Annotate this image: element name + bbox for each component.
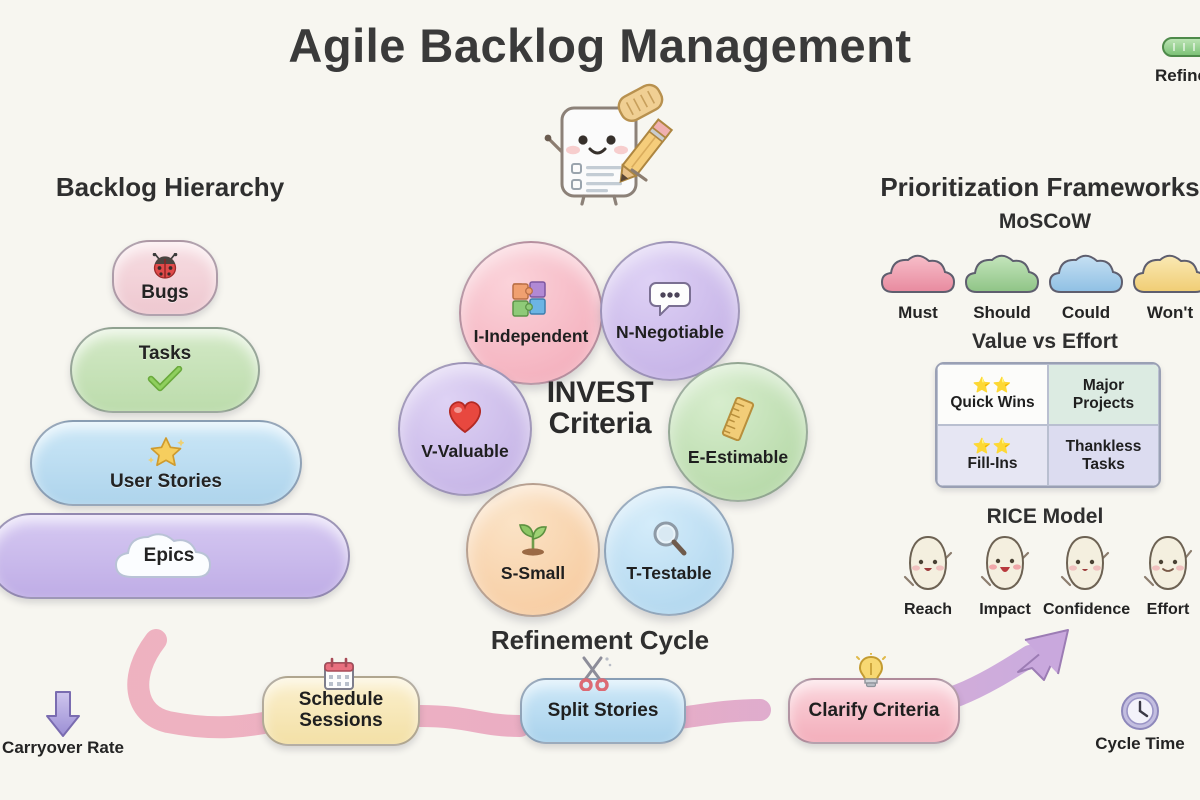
invest-label-testable: T-Testable <box>626 563 711 584</box>
check-icon <box>147 366 183 396</box>
infographic-canvas: Agile Backlog Management Refinement <box>0 0 1200 800</box>
clock-icon <box>1119 690 1161 734</box>
matrix-label-fill-ins: Fill-Ins <box>968 455 1018 472</box>
metric-label-cycle-time: Cycle Time <box>1086 734 1194 754</box>
rice-label-effort: Effort <box>1126 601 1200 619</box>
pyramid-label-user-stories: User Stories <box>110 472 222 492</box>
pyramid-label-tasks: Tasks <box>139 344 191 364</box>
moscow-item-must[interactable]: Must <box>873 248 963 323</box>
pyramid-level-user-stories[interactable]: User Stories <box>30 420 302 506</box>
mascot-checklist-character <box>528 78 678 206</box>
page-title: Agile Backlog Management <box>0 18 1200 73</box>
backlog-hierarchy-heading: Backlog Hierarchy <box>30 172 310 203</box>
matrix-label-thankless-tasks: Thankless Tasks <box>1066 438 1142 472</box>
value-effort-matrix: ⭐⭐ Quick Wins Major Projects ⭐⭐ Fill-Ins… <box>935 362 1161 488</box>
rice-grain-character-icon <box>1060 533 1110 595</box>
matrix-label-major-projects: Major Projects <box>1073 377 1134 411</box>
pyramid-label-bugs: Bugs <box>141 283 189 303</box>
refinement-cycle-heading: Refinement Cycle <box>460 625 740 656</box>
green-pill-icon <box>1162 36 1200 58</box>
matrix-cell-fill-ins[interactable]: ⭐⭐ Fill-Ins <box>937 425 1048 486</box>
cloud-icon <box>1131 248 1200 296</box>
cycle-label-split-stories: Split Stories <box>548 701 659 722</box>
puzzle-icon <box>510 280 552 324</box>
cycle-label-schedule-line2: Sessions <box>299 711 382 732</box>
invest-label-small: S-Small <box>501 563 565 584</box>
invest-circle-testable[interactable]: T-Testable <box>604 486 734 616</box>
metric-cycle-time[interactable]: Cycle Time <box>1086 690 1194 754</box>
moscow-label-should: Should <box>957 303 1047 323</box>
matrix-cell-thankless-tasks[interactable]: Thankless Tasks <box>1048 425 1159 486</box>
star-rating-icon: ⭐⭐ <box>973 439 1012 454</box>
invest-center-label: INVEST Criteria <box>500 378 700 439</box>
invest-label-valuable: V-Valuable <box>421 441 509 462</box>
scissors-icon <box>578 655 612 695</box>
refinement-badge-label: Refinement <box>1155 66 1200 86</box>
star-rating-icon: ⭐⭐ <box>973 378 1012 393</box>
matrix-cell-major-projects[interactable]: Major Projects <box>1048 364 1159 425</box>
pyramid-level-tasks[interactable]: Tasks <box>70 327 260 413</box>
metric-label-carryover-rate: Carryover Rate <box>2 738 124 758</box>
star-icon <box>148 435 184 471</box>
rice-label-confidence: Confidence <box>1043 601 1127 619</box>
matrix-label-quick-wins: Quick Wins <box>950 394 1034 411</box>
moscow-item-wont[interactable]: Won't <box>1125 248 1200 323</box>
rice-heading: RICE Model <box>930 505 1160 529</box>
prioritization-heading: Prioritization Frameworks <box>870 172 1200 203</box>
ruler-icon <box>718 397 758 445</box>
moscow-item-could[interactable]: Could <box>1041 248 1131 323</box>
rice-item-impact[interactable]: Impact <box>963 533 1047 619</box>
invest-center-line2: Criteria <box>500 409 700 440</box>
moscow-item-should[interactable]: Should <box>957 248 1047 323</box>
invest-center-line1: INVEST <box>500 378 700 409</box>
down-arrow-icon <box>43 690 83 738</box>
ladybug-icon <box>150 253 180 283</box>
calendar-icon <box>322 657 356 695</box>
moscow-heading: MoSCoW <box>930 210 1160 234</box>
moscow-label-could: Could <box>1041 303 1131 323</box>
invest-label-independent: I-Independent <box>474 326 589 347</box>
lightbulb-icon <box>855 653 887 693</box>
rice-item-confidence[interactable]: Confidence <box>1043 533 1127 619</box>
rice-grain-character-icon <box>980 533 1030 595</box>
rice-label-impact: Impact <box>963 601 1047 619</box>
rice-grain-character-icon <box>1143 533 1193 595</box>
cloud-icon <box>879 248 957 296</box>
heart-icon <box>444 397 486 439</box>
rice-item-reach[interactable]: Reach <box>886 533 970 619</box>
invest-circle-small[interactable]: S-Small <box>466 483 600 617</box>
rice-label-reach: Reach <box>886 601 970 619</box>
value-effort-heading: Value vs Effort <box>930 330 1160 354</box>
moscow-label-wont: Won't <box>1125 303 1200 323</box>
magnifier-icon <box>650 519 688 561</box>
cycle-label-clarify-criteria: Clarify Criteria <box>809 701 940 722</box>
rice-grain-character-icon <box>903 533 953 595</box>
pyramid-label-epics: Epics <box>144 546 195 566</box>
invest-label-negotiable: N-Negotiable <box>616 322 724 343</box>
invest-circle-negotiable[interactable]: N-Negotiable <box>600 241 740 381</box>
metric-carryover-rate[interactable]: Carryover Rate <box>2 690 124 758</box>
invest-label-estimable: E-Estimable <box>688 447 788 468</box>
pyramid-level-bugs[interactable]: Bugs <box>112 240 218 316</box>
matrix-cell-quick-wins[interactable]: ⭐⭐ Quick Wins <box>937 364 1048 425</box>
cloud-icon <box>1047 248 1125 296</box>
seedling-icon <box>513 517 553 561</box>
cloud-icon <box>963 248 1041 296</box>
moscow-label-must: Must <box>873 303 963 323</box>
refinement-badge <box>1162 36 1200 63</box>
rice-item-effort[interactable]: Effort <box>1126 533 1200 619</box>
pyramid-level-epics[interactable]: Epics <box>0 513 350 599</box>
speech-bubble-icon <box>648 280 692 320</box>
